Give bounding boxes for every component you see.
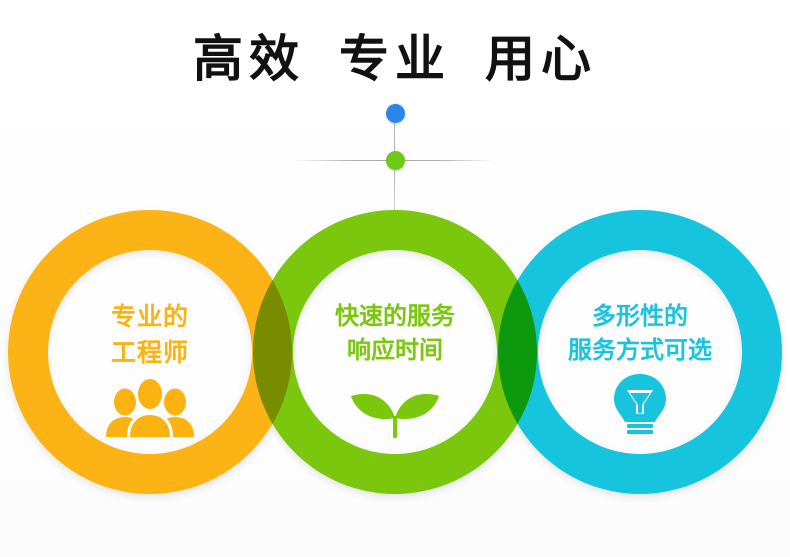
ring-service-modes-shape <box>0 0 790 557</box>
venn-rings-group <box>0 0 790 557</box>
infographic-canvas: 高效专业用心 <box>0 0 790 557</box>
